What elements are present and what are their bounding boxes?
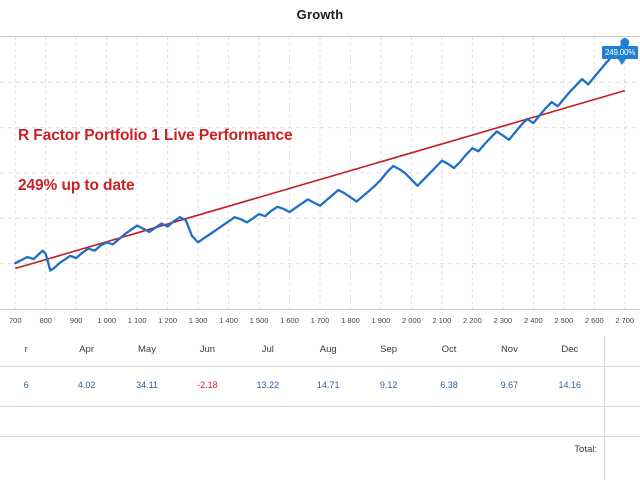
annotation-line-2: 249% up to date xyxy=(18,177,135,195)
x-axis-tick-label: 2 300 xyxy=(493,316,512,325)
month-label: Jul xyxy=(262,344,274,355)
x-axis-tick-label: 1 600 xyxy=(280,316,299,325)
x-axis-tick-label: 1 200 xyxy=(158,316,177,325)
x-axis-tick-label: 2 400 xyxy=(524,316,543,325)
month-return-value: 34.11 xyxy=(136,380,158,390)
x-axis-tick-label: 1 000 xyxy=(97,316,116,325)
badge-pointer-icon xyxy=(618,59,626,65)
x-axis-tick-label: 2 500 xyxy=(554,316,573,325)
month-return-value: 14.16 xyxy=(559,380,582,390)
plot-area: R Factor Portfolio 1 Live Performance 24… xyxy=(0,36,640,310)
gridlines xyxy=(0,37,640,309)
x-axis-tick-label: 1 400 xyxy=(219,316,238,325)
growth-plot-svg xyxy=(0,37,640,309)
month-return-value: 14.71 xyxy=(317,380,340,390)
total-label: Total: xyxy=(574,444,597,455)
month-return-value: 6 xyxy=(24,380,29,390)
x-axis-tick-label: 700 xyxy=(9,316,22,325)
x-axis-tick-label: 1 900 xyxy=(372,316,391,325)
month-label: Apr xyxy=(79,344,94,355)
table-rule-middle xyxy=(0,406,640,407)
x-axis-tick-label: 2 200 xyxy=(463,316,482,325)
page-title: Growth xyxy=(0,7,640,22)
month-return-value: 4.02 xyxy=(78,380,96,390)
table-rule-bottom xyxy=(0,436,640,437)
x-axis-tick-label: 2 600 xyxy=(585,316,604,325)
month-return-value: -2.18 xyxy=(197,380,218,390)
month-return-value: 9.67 xyxy=(501,380,519,390)
x-axis-tick-label: 2 700 xyxy=(615,316,634,325)
x-axis-tick-label: 2 100 xyxy=(433,316,452,325)
growth-chart-panel: Growth R Factor Portfolio 1 Live Perform… xyxy=(0,0,640,480)
x-axis-tick-label: 1 500 xyxy=(250,316,269,325)
x-axis-tick-label: 1 800 xyxy=(341,316,360,325)
month-label: Aug xyxy=(320,344,337,355)
month-label: Nov xyxy=(501,344,518,355)
total-column-divider xyxy=(604,336,605,480)
x-axis-tick-label: 1 700 xyxy=(311,316,330,325)
month-label: Oct xyxy=(442,344,457,355)
month-label: Jun xyxy=(200,344,215,355)
x-axis-tick-label: 800 xyxy=(39,316,52,325)
month-label: Sep xyxy=(380,344,397,355)
end-value-badge: 249.00% xyxy=(602,46,638,59)
month-label: Dec xyxy=(561,344,578,355)
table-rule-top xyxy=(0,366,640,367)
x-axis-tick-label: 2 000 xyxy=(402,316,421,325)
month-return-value: 13.22 xyxy=(257,380,280,390)
x-axis-ticks: 7008009001 0001 1001 2001 3001 4001 5001… xyxy=(0,308,640,336)
month-label: r xyxy=(25,344,28,355)
month-return-value: 9.12 xyxy=(380,380,398,390)
x-axis-tick-label: 900 xyxy=(70,316,83,325)
month-label: May xyxy=(138,344,156,355)
x-axis-tick-label: 1 100 xyxy=(128,316,147,325)
month-return-value: 6.38 xyxy=(440,380,458,390)
monthly-returns-table: r6Apr4.02May34.11Jun-2.18Jul13.22Aug14.7… xyxy=(0,336,640,480)
x-axis-tick-label: 1 300 xyxy=(189,316,208,325)
annotation-line-1: R Factor Portfolio 1 Live Performance xyxy=(18,127,293,145)
